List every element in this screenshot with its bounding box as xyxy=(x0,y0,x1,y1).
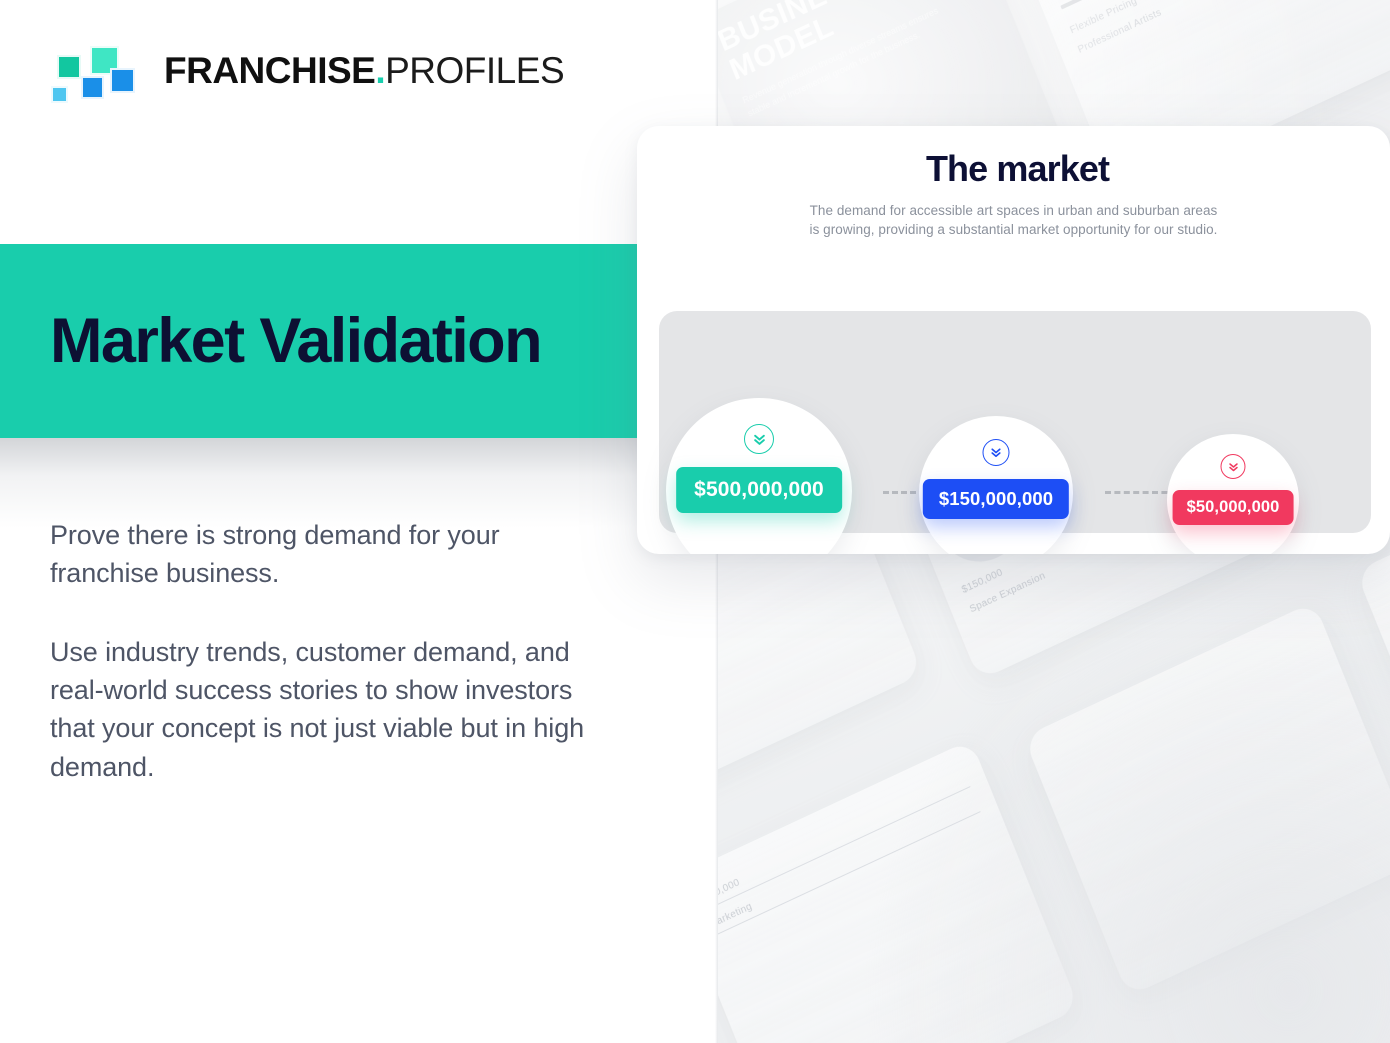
market-card-title: The market xyxy=(637,148,1390,190)
market-amount-som: $50,000,000 xyxy=(1173,490,1294,525)
background-label: Marketing xyxy=(716,796,978,931)
chevron-double-down-icon xyxy=(744,424,774,454)
background-card: $150,000 Marketing xyxy=(716,740,1079,1043)
brand-wordmark: FRANCHISE.PROFILES xyxy=(164,52,564,89)
body-copy: Prove there is strong demand for your fr… xyxy=(50,516,590,786)
brand-name-bold: FRANCHISE xyxy=(164,50,375,91)
body-paragraph-2: Use industry trends, customer demand, an… xyxy=(50,633,590,786)
chevron-double-down-icon xyxy=(983,439,1010,466)
brand-name-dot: . xyxy=(375,50,385,91)
market-amount-tam: $500,000,000 xyxy=(676,467,842,513)
market-card: The market The demand for accessible art… xyxy=(637,126,1390,554)
market-card-subtitle: The demand for accessible art spaces in … xyxy=(804,202,1224,239)
page-title: Market Validation xyxy=(50,310,541,373)
banner-shadow xyxy=(0,438,637,528)
brand-logo[interactable]: FRANCHISE.PROFILES xyxy=(48,44,564,96)
logo-square-teal-dark xyxy=(57,55,81,79)
logo-square-blue xyxy=(110,68,135,93)
squares-logo-icon xyxy=(48,44,112,96)
market-funnel: $500,000,000 Total Addressable Market (T… xyxy=(659,286,1371,534)
divider xyxy=(716,786,970,911)
background-card xyxy=(1024,602,1390,997)
logo-square-blue-mid xyxy=(81,76,104,99)
chevron-double-down-icon xyxy=(1221,454,1246,479)
left-content-column: FRANCHISE.PROFILES Prove there is strong… xyxy=(0,0,718,1043)
logo-square-blue-light xyxy=(51,86,68,103)
page-title-banner: Market Validation xyxy=(0,244,637,438)
market-amount-sam: $150,000,000 xyxy=(923,479,1069,519)
slide-canvas: Drop-in Fees Session Workshops Commissio… xyxy=(0,0,1390,1043)
body-paragraph-1: Prove there is strong demand for your fr… xyxy=(50,516,590,593)
brand-name-light: PROFILES xyxy=(385,50,564,91)
